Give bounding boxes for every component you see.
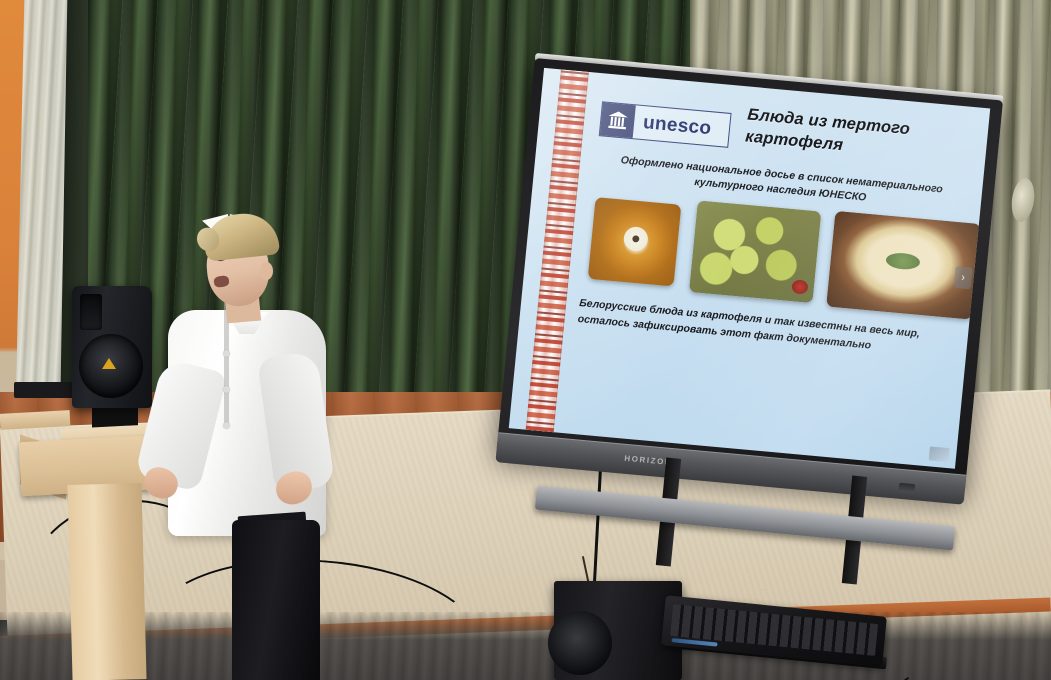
slide-watermark-icon — [929, 446, 950, 462]
shirt-button — [223, 350, 230, 357]
speaker-brand-triangle-icon — [102, 358, 116, 369]
assembly-hall-scene: unesco Блюда из тертого картофеля Оформл… — [0, 0, 1051, 680]
presenter-ear — [260, 262, 273, 280]
unesco-wordmark: unesco — [633, 112, 712, 138]
interactive-display[interactable]: unesco Блюда из тертого картофеля Оформл… — [535, 58, 1027, 558]
podium-column — [67, 483, 146, 680]
speaker-handle-port — [80, 294, 102, 330]
presenter — [148, 214, 328, 680]
photo-potato-dumplings-kletski — [689, 200, 821, 303]
display-ir-sensor — [898, 483, 915, 493]
presentation-slide[interactable]: unesco Блюда из тертого картофеля Оформл… — [509, 68, 990, 469]
subwoofer-cone — [548, 611, 612, 675]
display-bezel: unesco Блюда из тертого картофеля Оформл… — [496, 58, 1003, 495]
pa-speaker — [72, 286, 152, 408]
presenter-trousers — [232, 520, 320, 680]
slide-content: unesco Блюда из тертого картофеля Оформл… — [561, 73, 991, 469]
keyboard-indicator-light — [671, 638, 717, 646]
photo-draniki-potato-pancakes — [588, 197, 682, 286]
unesco-logo: unesco — [599, 101, 732, 148]
shirt-button — [223, 422, 230, 429]
audio-amplifier — [14, 382, 76, 398]
next-slide-arrow-icon[interactable]: › — [954, 266, 973, 289]
unesco-temple-icon — [600, 102, 636, 138]
shirt-button — [223, 386, 230, 393]
slide-title: Блюда из тертого картофеля — [744, 105, 972, 169]
